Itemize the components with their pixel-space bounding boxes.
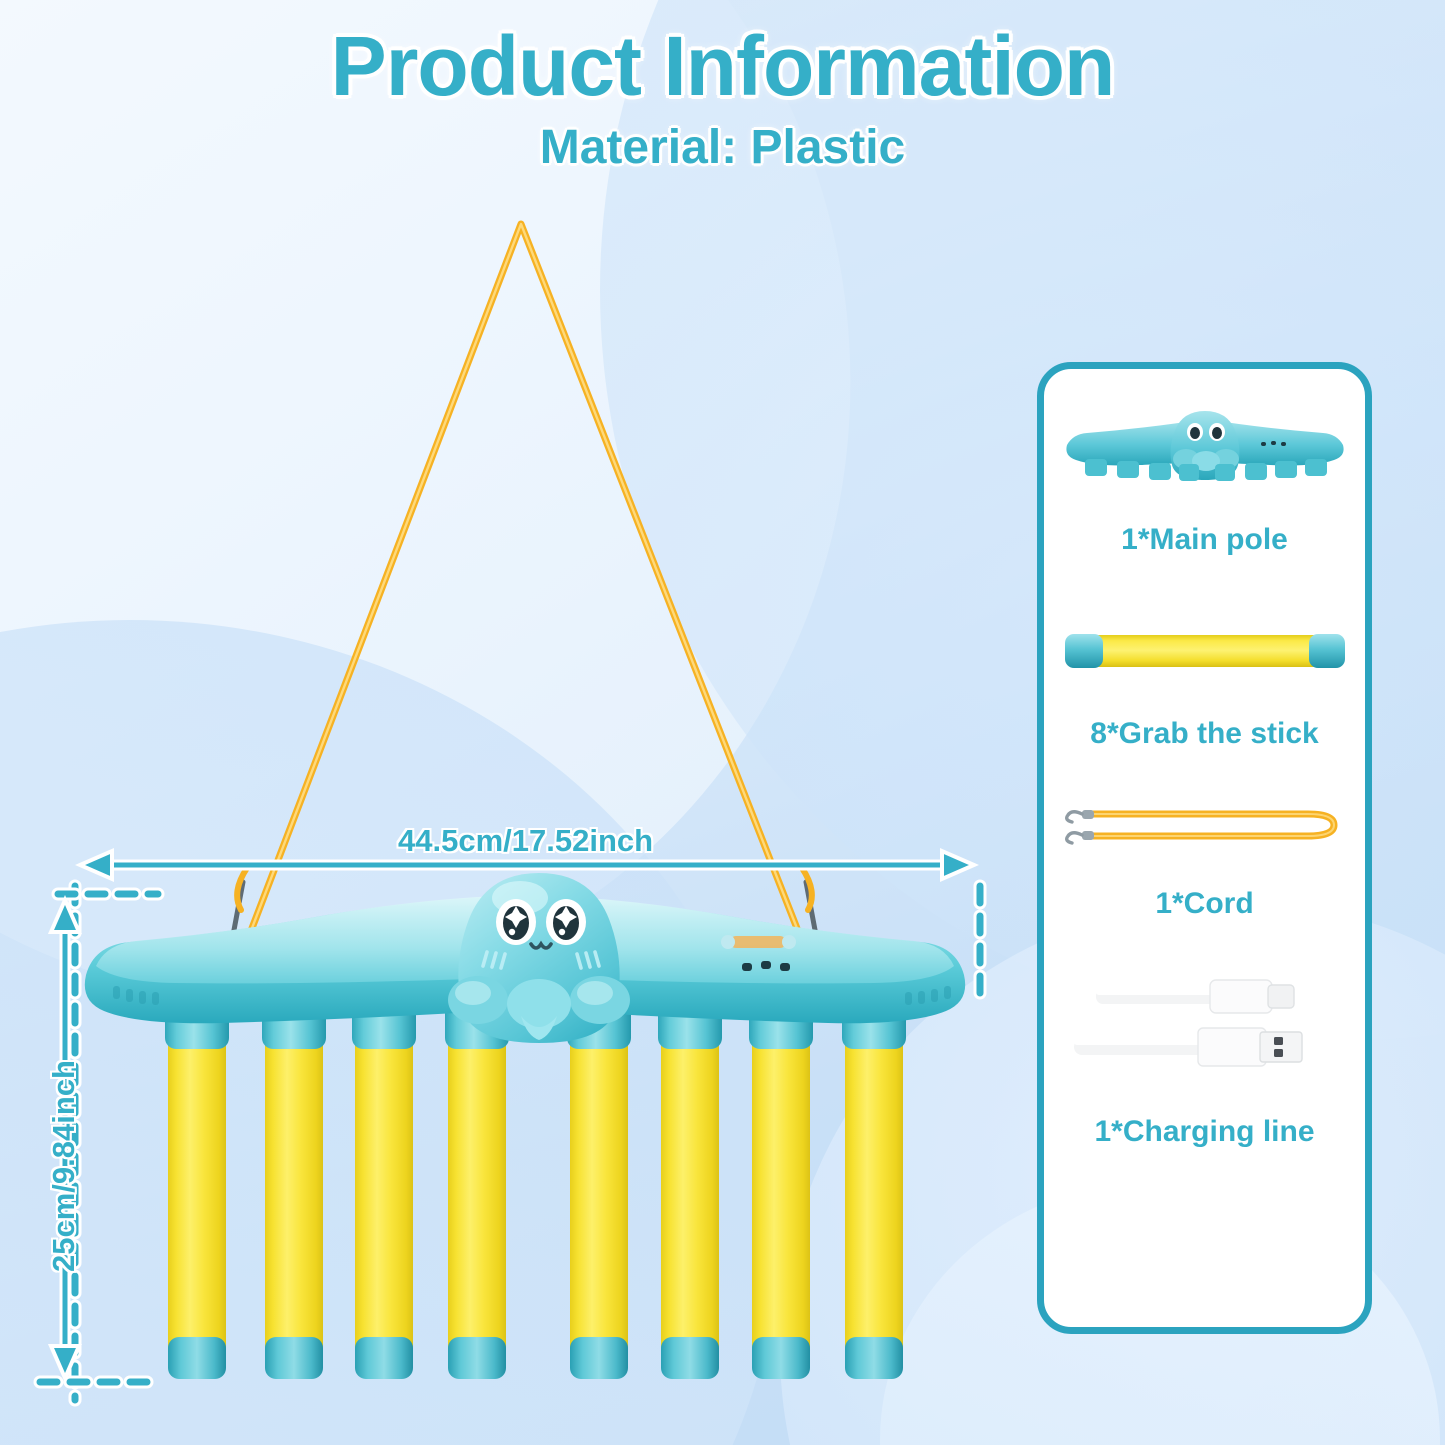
page-title: Product Information	[0, 22, 1445, 110]
infographic-canvas: Product Information Material: Plastic	[0, 0, 1445, 1445]
part-item-cord: 1*Cord	[1044, 751, 1365, 921]
grab-stick	[445, 1003, 509, 1379]
grab-stick	[165, 1003, 229, 1379]
header-block: Product Information Material: Plastic	[0, 22, 1445, 175]
grab-stick	[842, 1003, 906, 1379]
main-pole-icon	[1044, 387, 1365, 499]
cord-icon	[1044, 785, 1365, 865]
part-label-cord: 1*Cord	[1155, 887, 1253, 921]
charging-line-icon	[1044, 959, 1365, 1089]
grab-stick	[262, 1003, 326, 1379]
grab-sticks-group	[165, 1003, 906, 1379]
grab-stick	[749, 1003, 813, 1379]
grab-stick	[352, 1003, 416, 1379]
page-subtitle: Material: Plastic	[0, 120, 1445, 175]
width-dimension-label: 44.5cm/17.52inch	[398, 823, 653, 859]
part-item-charging-line: 1*Charging line	[1044, 921, 1365, 1149]
grab-stick	[658, 1003, 722, 1379]
part-label-grab-stick: 8*Grab the stick	[1090, 717, 1318, 751]
part-item-main-pole: 1*Main pole	[1044, 369, 1365, 557]
grab-stick	[567, 1003, 631, 1379]
part-label-charging-line: 1*Charging line	[1094, 1115, 1314, 1149]
part-label-main-pole: 1*Main pole	[1121, 523, 1288, 557]
part-item-grab-stick: 8*Grab the stick	[1044, 557, 1365, 751]
parts-list-card: 1*Main pole	[1037, 362, 1372, 1334]
grab-stick-icon	[1044, 605, 1365, 697]
height-dimension-label: 25cm/9.84inch	[46, 1016, 82, 1316]
